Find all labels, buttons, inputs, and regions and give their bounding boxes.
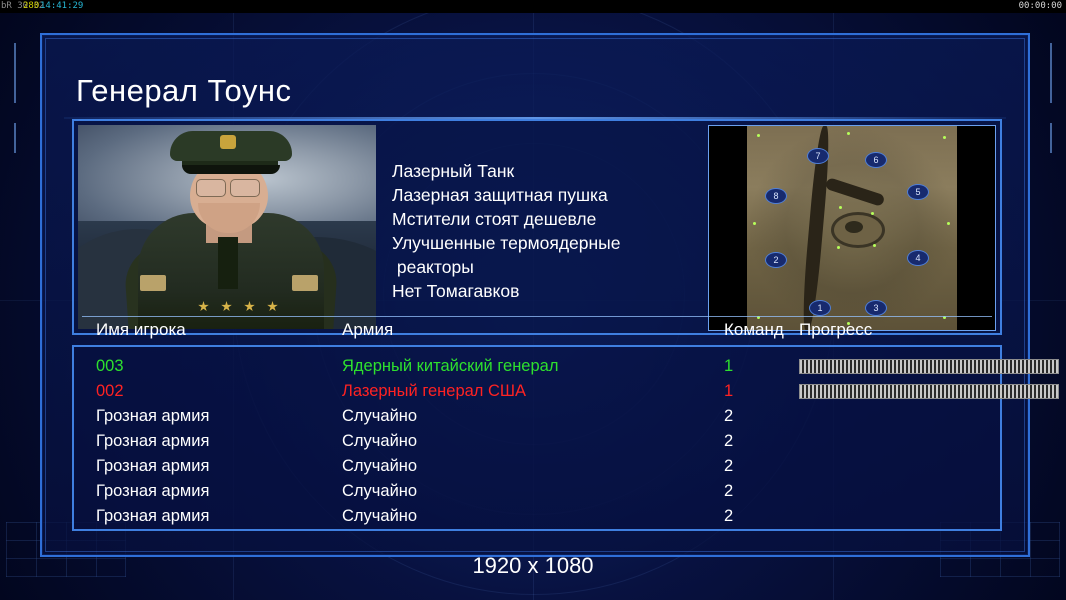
player-progress-bar [799,384,1059,399]
player-army: Случайно [342,479,417,504]
portrait-rank-right [292,275,318,291]
map-start-position-8: 8 [765,188,787,204]
map-river-branch [825,177,886,207]
player-team: 2 [724,504,733,529]
bonus-item-2: Мстители стоят дешевле [392,207,620,231]
debug-time: 14:41:29 [40,0,83,13]
map-center-core [845,221,863,233]
briefing-panel: Генерал Тоунс [40,33,1030,557]
table-row: Грозная армия Случайно 2 [74,479,1000,504]
column-header-player: Имя игрока [96,320,186,340]
player-army: Лазерный генерал США [342,379,526,404]
bonus-item-4: реакторы [392,255,620,279]
map-start-position-7: 7 [807,148,829,164]
map-start-position-4: 4 [907,250,929,266]
column-header-army: Армия [342,320,393,340]
player-table: Имя игрока Армия Команд Прогресс 003 Яде… [72,345,1002,531]
portrait-cap-visor [182,165,280,174]
table-row: 002 Лазерный генерал США 1 [74,379,1000,404]
debug-topbar: bR 30 32 280 14:41:29 00:00:00 [0,0,1066,13]
player-team: 2 [724,454,733,479]
column-header-progress: Прогресс [799,320,872,340]
player-name: 003 [96,354,124,379]
table-row: Грозная армия Случайно 2 [74,454,1000,479]
page-title: Генерал Тоунс [76,73,292,109]
player-team: 2 [724,479,733,504]
player-name: Грозная армия [96,504,209,529]
map-start-position-3: 3 [865,300,887,316]
player-team: 1 [724,354,733,379]
map-start-position-1: 1 [809,300,831,316]
table-row: Грозная армия Случайно 2 [74,404,1000,429]
bonus-item-1: Лазерная защитная пушка [392,183,620,207]
resolution-label: 1920 x 1080 [0,553,1066,579]
bonus-item-3: Улучшенные термоядерные [392,231,620,255]
portrait-glasses-left [196,179,226,197]
map-start-position-5: 5 [907,184,929,200]
map-preview: 7 6 8 5 2 4 1 3 [708,125,996,331]
general-bonus-list: Лазерный Танк Лазерная защитная пушка Мс… [392,159,620,303]
general-info-box: Лазерный Танк Лазерная защитная пушка Мс… [72,119,1002,335]
map-start-position-2: 2 [765,252,787,268]
table-row: 003 Ядерный китайский генерал 1 [74,354,1000,379]
bonus-item-5: Нет Томагавков [392,279,620,303]
portrait-stars [198,301,302,313]
player-name: 002 [96,379,124,404]
table-row: Грозная армия Случайно 2 [74,429,1000,454]
match-clock: 00:00:00 [1019,0,1062,13]
player-army: Случайно [342,404,417,429]
player-army: Случайно [342,504,417,529]
general-portrait [78,125,376,329]
player-army: Случайно [342,429,417,454]
player-name: Грозная армия [96,429,209,454]
player-team: 1 [724,379,733,404]
table-header-divider [82,316,992,317]
bonus-item-0: Лазерный Танк [392,159,620,183]
game-loading-screen: bR 30 32 280 14:41:29 00:00:00 [0,0,1066,600]
map-terrain: 7 6 8 5 2 4 1 3 [747,126,957,330]
portrait-glasses-right [230,179,260,197]
table-row: Грозная армия Случайно 2 [74,504,1000,529]
player-name: Грозная армия [96,479,209,504]
player-name: Грозная армия [96,404,209,429]
player-army: Случайно [342,454,417,479]
map-start-position-6: 6 [865,152,887,168]
player-team: 2 [724,404,733,429]
portrait-tie [218,237,238,289]
player-team: 2 [724,429,733,454]
table-header-row: Имя игрока Армия Команд Прогресс [74,320,1000,344]
player-army: Ядерный китайский генерал [342,354,558,379]
player-progress-bar [799,359,1059,374]
column-header-team: Команд [724,320,784,340]
player-name: Грозная армия [96,454,209,479]
portrait-rank-left [140,275,166,291]
debug-code: 280 [23,0,39,13]
portrait-cap-badge [220,135,236,149]
